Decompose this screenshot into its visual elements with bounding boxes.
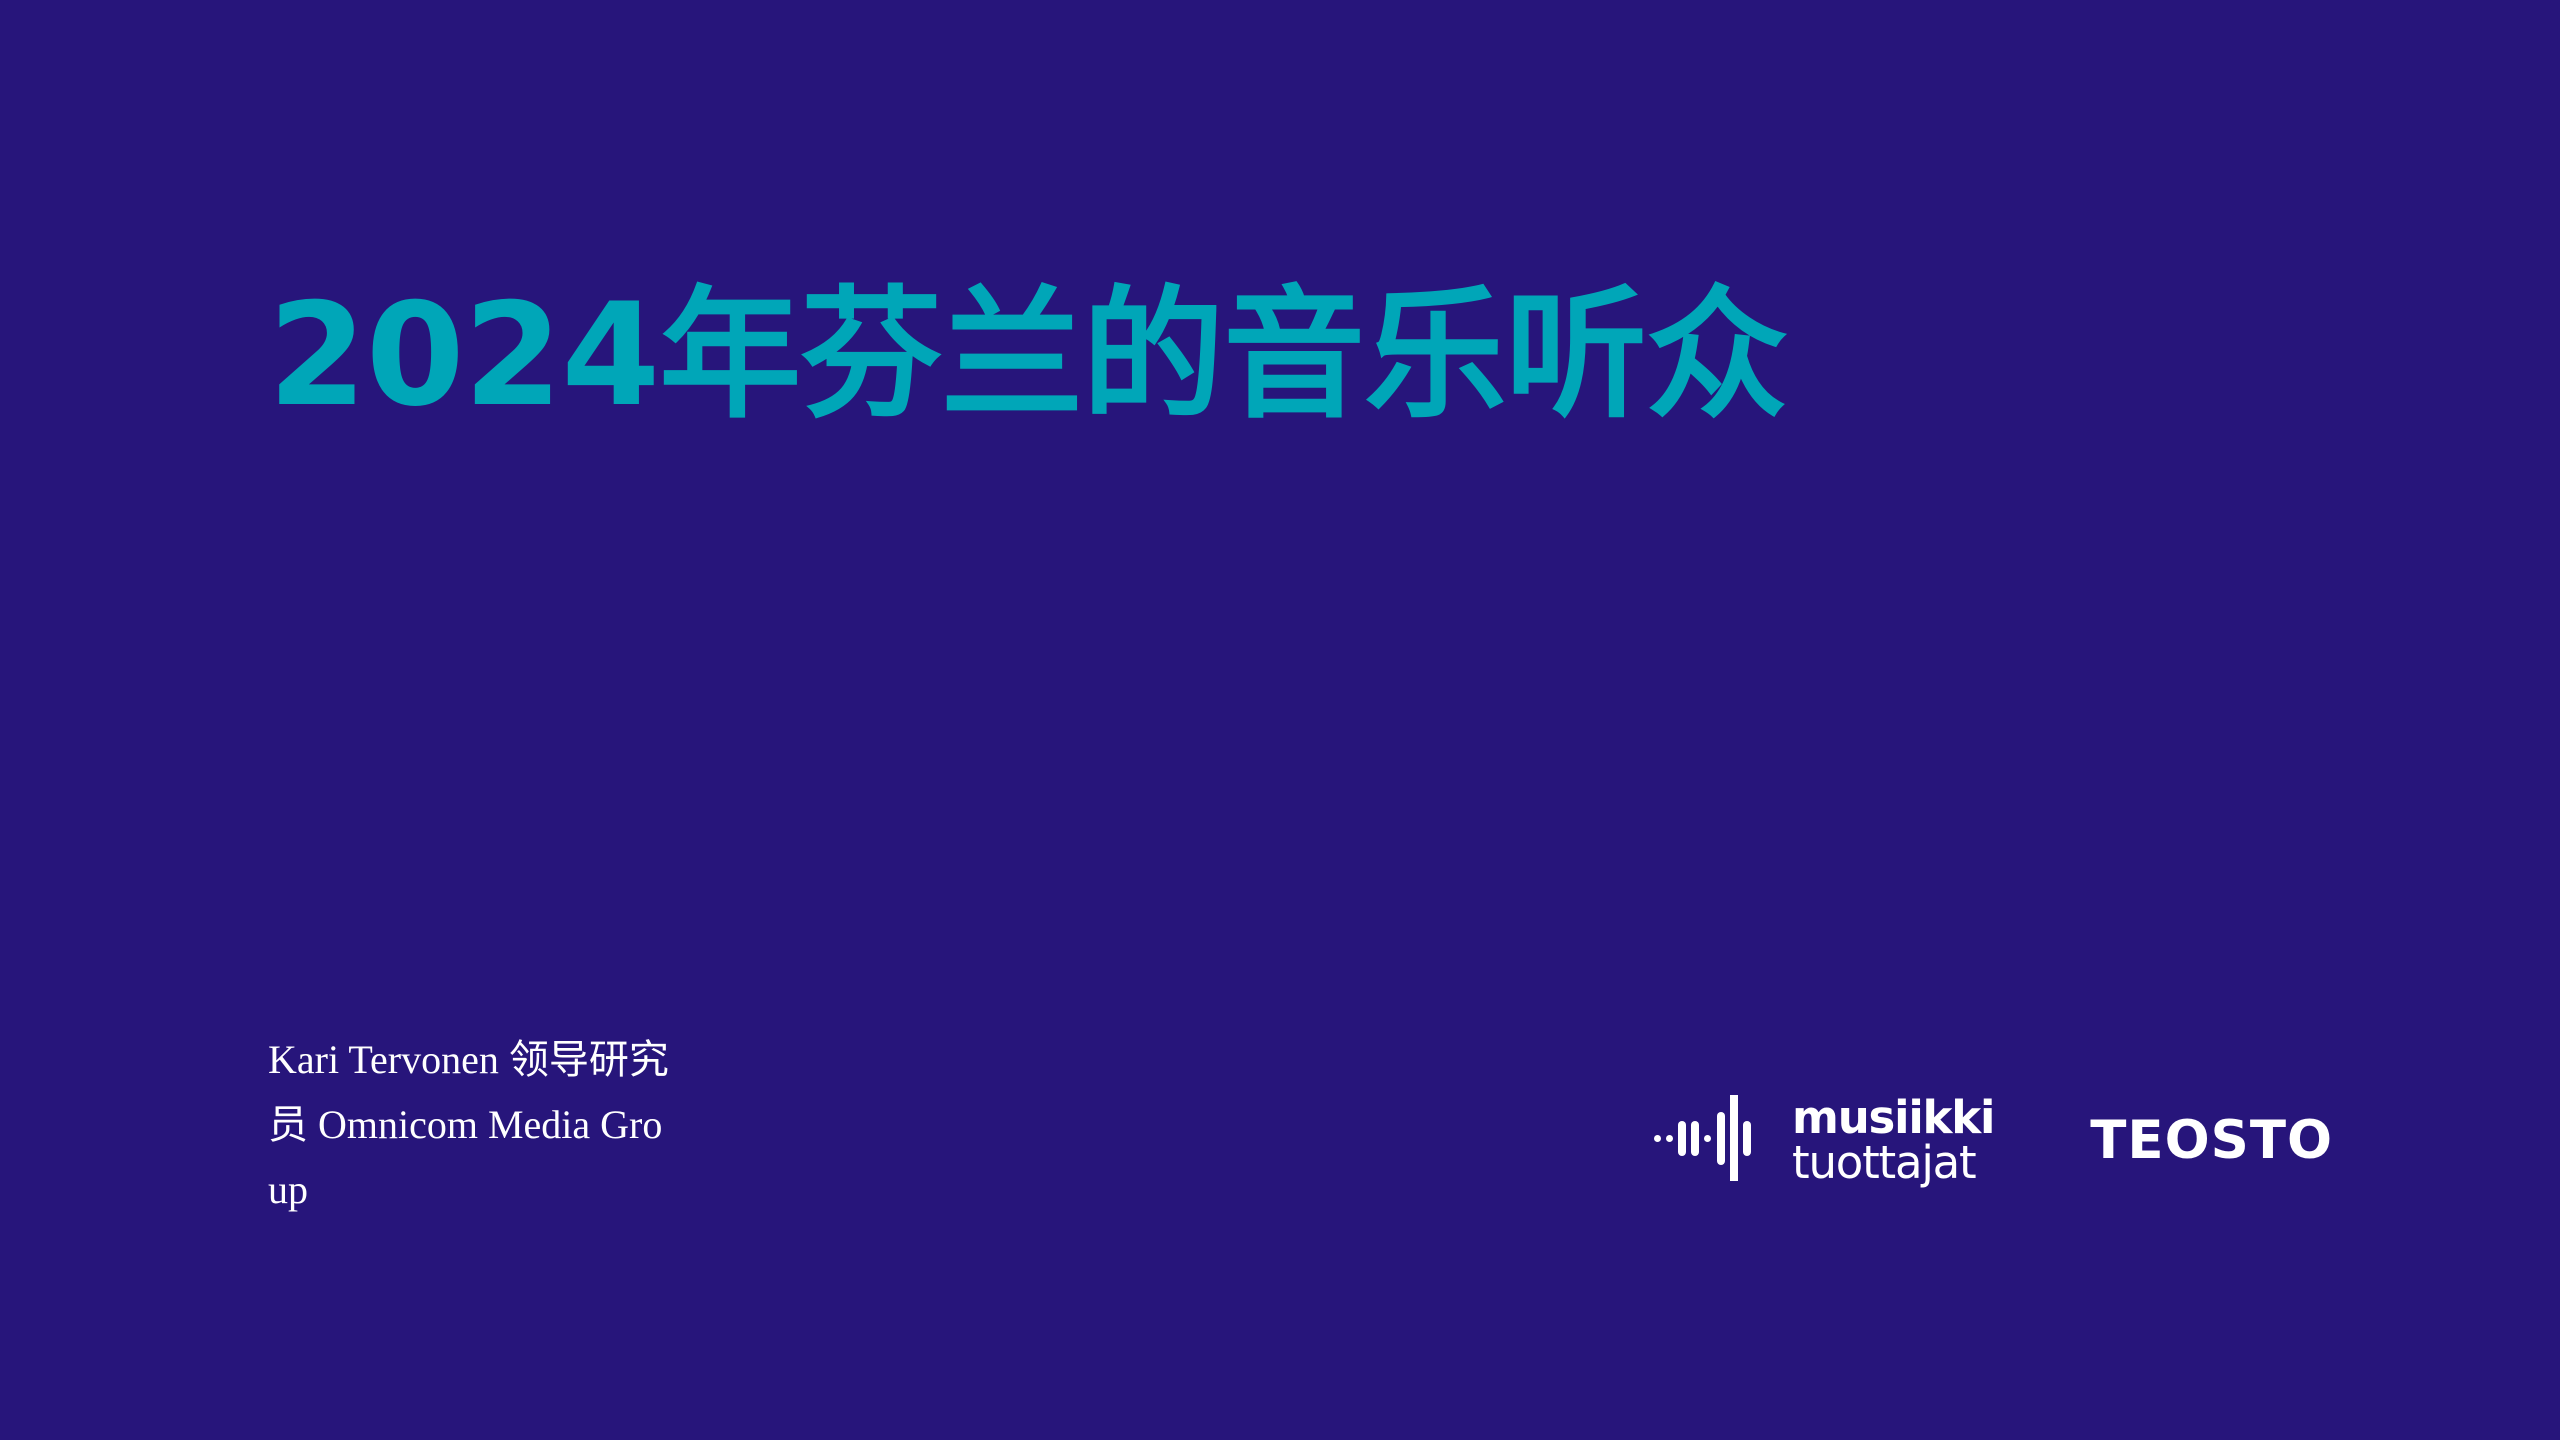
title-block: 2024年芬兰的音乐听众 (268, 258, 1868, 454)
audio-waveform-bars-icon (1650, 1095, 1770, 1186)
musiikkituottajat-line-1: musiikki (1792, 1096, 1994, 1140)
musiikkituottajat-wordmark: musiikki tuottajat (1792, 1096, 1994, 1184)
presentation-slide: 2024年芬兰的音乐听众 Kari Tervonen 领导研究员 Omnicom… (0, 0, 2560, 1440)
teosto-logo: TEOSTO (2090, 1114, 2333, 1167)
musiikkituottajat-line-2: tuottajat (1792, 1141, 1994, 1185)
byline-block: Kari Tervonen 领导研究员 Omnicom Media Group (268, 1028, 678, 1222)
musiikkituottajat-logo: musiikki tuottajat (1650, 1095, 1994, 1186)
slide-title: 2024年芬兰的音乐听众 (268, 258, 1868, 454)
presenter-byline: Kari Tervonen 领导研究员 Omnicom Media Group (268, 1028, 678, 1222)
logo-bar: musiikki tuottajat TEOSTO (1650, 1095, 2333, 1186)
